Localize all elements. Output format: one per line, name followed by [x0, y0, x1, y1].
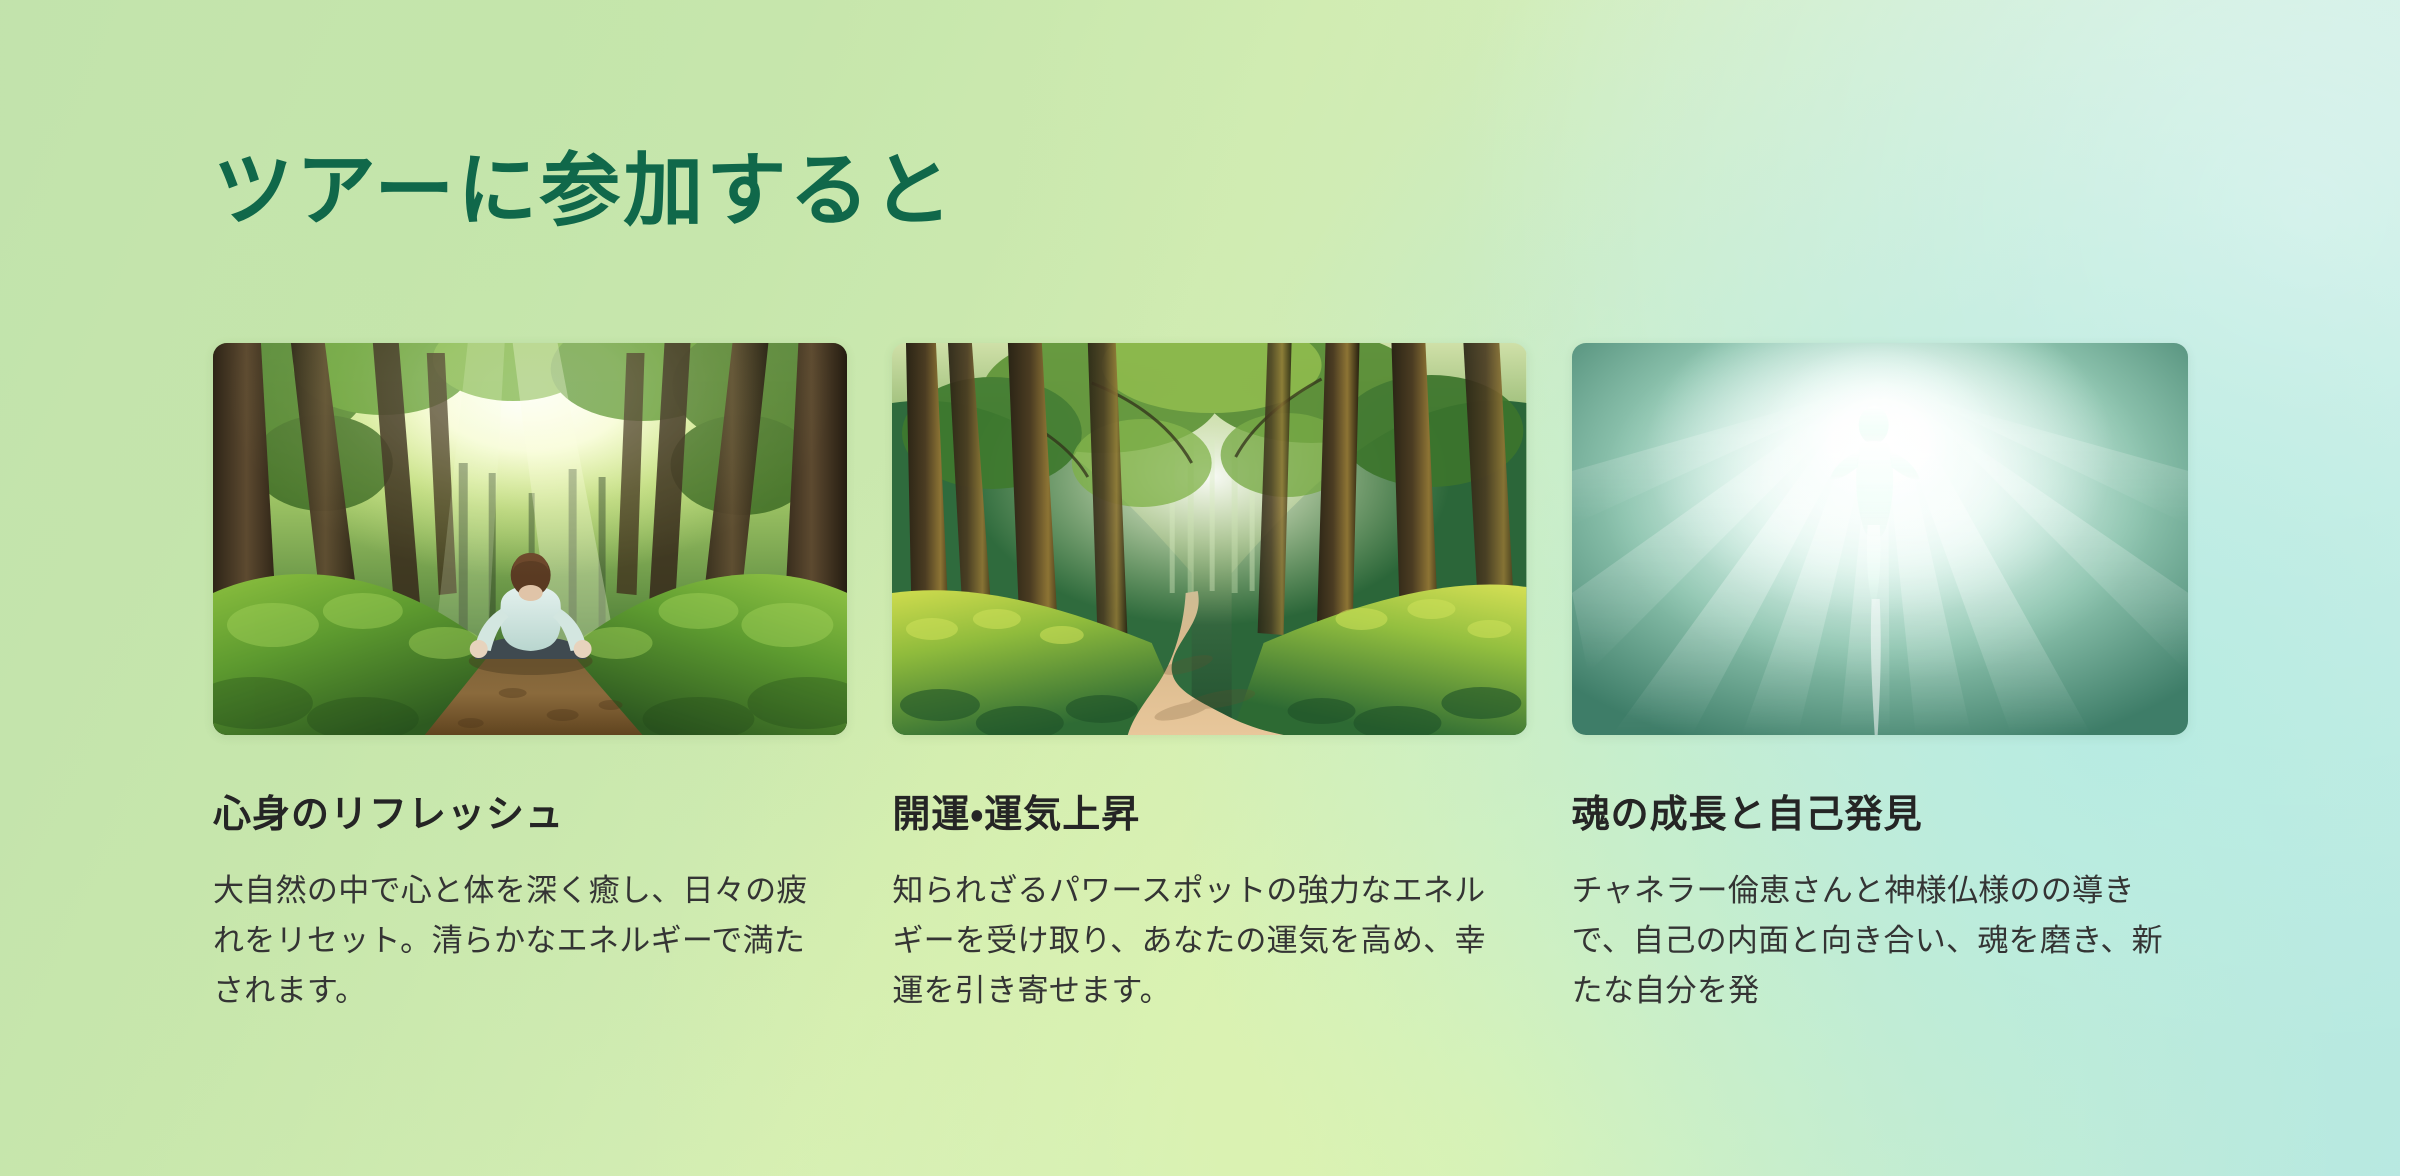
page-right-margin — [2400, 0, 2427, 1176]
card-title: 開運・運気上昇 — [892, 790, 1526, 838]
landing-section: ツアーに参加すると — [0, 0, 2427, 1176]
card-title: 心身のリフレッシュ — [213, 790, 847, 838]
card-body: 大自然の中で心と体を深く癒し、日々の疲れをリセット。清らかなエネルギーで満たされ… — [213, 866, 813, 1017]
glowing-spirit-figure — [1572, 343, 2188, 735]
forest-meditation-photo — [213, 343, 847, 735]
card-body: チャネラー倫恵さんと神様仏様のの導きで、自己の内面と向き合い、魂を磨き、新たな自… — [1572, 866, 2172, 1017]
card-body: 知られざるパワースポットの強力なエネルギーを受け取り、あなたの運気を高め、幸運を… — [892, 866, 1492, 1017]
page-title: ツアーに参加すると — [213, 148, 955, 232]
benefit-card[interactable]: 魂の成長と自己発見 チャネラー倫恵さんと神様仏様のの導きで、自己の内面と向き合い… — [1572, 343, 2188, 1016]
benefit-card[interactable]: 心身のリフレッシュ 大自然の中で心と体を深く癒し、日々の疲れをリセット。清らかな… — [213, 343, 847, 1016]
section-content: ツアーに参加すると — [0, 0, 2400, 1176]
forest-path-illustration — [892, 343, 1526, 735]
benefit-card[interactable]: 開運・運気上昇 知られざるパワースポットの強力なエネルギーを受け取り、あなたの運… — [892, 343, 1526, 1016]
benefit-card-list: 心身のリフレッシュ 大自然の中で心と体を深く癒し、日々の疲れをリセット。清らかな… — [213, 343, 2188, 1016]
card-title: 魂の成長と自己発見 — [1572, 790, 2188, 838]
